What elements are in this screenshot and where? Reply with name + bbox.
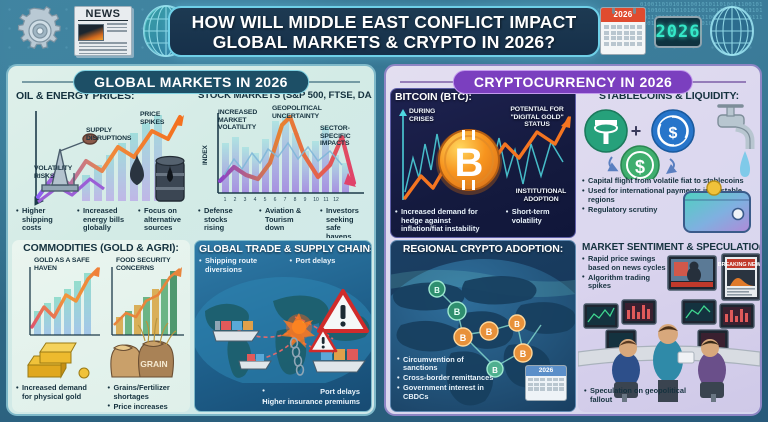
tether-coin-icon (585, 110, 627, 152)
calendar-year: 2026 (526, 366, 566, 376)
svg-text:12: 12 (333, 197, 339, 203)
digital-year-display: 2026 (656, 22, 701, 42)
svg-text:10: 10 (313, 197, 319, 203)
svg-text:4: 4 (254, 197, 257, 203)
bullet-list: Increased energy bills globally (73, 207, 129, 234)
dollar-coin-icon: $ (621, 146, 659, 179)
svg-text:$: $ (669, 125, 678, 142)
bullet-item: Increased demand for hedge against infla… (395, 208, 493, 234)
bullet-item: Speculation on geopolitical fallout (584, 387, 688, 404)
bullet-item: Shipping route diversions (199, 257, 277, 274)
faucet-icon (718, 106, 750, 177)
chart-label-gold-safe-haven: GOLD AS A SAFE HAVEN (34, 257, 92, 272)
calendar-icon: 2026 (525, 365, 567, 401)
svg-text:6: 6 (274, 197, 277, 203)
calendar-icon: 2026 (600, 7, 646, 55)
bullet-item: Higher shipping costs (16, 207, 64, 233)
svg-text:B: B (454, 307, 461, 317)
title-line-1: HOW WILL MIDDLE EAST CONFLICT IMPACT (192, 12, 577, 32)
bullet-list: Port delays (286, 257, 372, 276)
header-bar: NEWS HOW WILL MIDDLE EAST CONFLICT IMPA (0, 0, 768, 62)
svg-text:B: B (455, 141, 484, 185)
bullet-item: Circumvention of sanctions (397, 356, 497, 373)
newspaper-label: NEWS (78, 9, 128, 21)
bullet-list: Defense stocks rising (194, 207, 250, 238)
svg-text:5: 5 (264, 197, 267, 203)
bullet-list: Circumvention of sanctions Cross-border … (393, 356, 501, 403)
section-global-trade: GLOBAL TRADE & SUPPLY CHAINS: Shipping r… (194, 240, 372, 412)
bullet-list: Investors seeking safe havens (316, 207, 372, 238)
bullet-list: Shipping route diversions (195, 257, 281, 276)
bullet-list: Port delays Higher insurance premiums (262, 388, 367, 407)
chart-label-geopolitical-uncertainty: GEOPOLITICAL UNCERTAINTY (272, 105, 328, 120)
chart-label-food-security: FOOD SECURITY CONCERNS (116, 257, 178, 272)
bullet-list: Short-term volatility (502, 208, 575, 235)
svg-text:B: B (434, 286, 440, 295)
bullet-list: Speculation on geopolitical fallout (580, 387, 692, 406)
newspaper-photo (78, 24, 104, 41)
svg-text:3: 3 (244, 197, 247, 203)
bullet-item: Price increases (108, 403, 187, 412)
svg-text:B: B (460, 333, 467, 343)
stock-index-chart: 123 456 789 101112 INDEX INCREASED MARKE… (194, 103, 372, 213)
infographic-root: NEWS HOW WILL MIDDLE EAST CONFLICT IMPA (0, 0, 768, 422)
bullet-list: Aviation & Tourism down (255, 207, 311, 238)
newspaper-icon: NEWS (74, 6, 132, 56)
bullet-item: Port delays (290, 257, 368, 266)
bullet-item: Higher insurance premiums (262, 398, 367, 407)
svg-text:B: B (520, 349, 527, 359)
title-line-2: GLOBAL MARKETS & CRYPTO IN 2026? (213, 32, 556, 52)
bullet-item: Aviation & Tourism down (259, 207, 307, 233)
bullet-item: Defense stocks rising (198, 207, 246, 233)
section-stablecoins: STABLECOINS & LIQUIDITY: + (578, 88, 760, 238)
bullet-item: Government interest in CBDCs (397, 384, 497, 401)
bullet-item: Focus on alternative sources (138, 207, 186, 233)
section-bitcoin: BITCOIN (BTC): (390, 88, 576, 238)
commodities-charts: GRAIN GOLD AS A SAFE HAVEN FOOD SECURITY… (12, 255, 190, 383)
svg-text:$: $ (635, 157, 645, 177)
svg-text:11: 11 (323, 197, 328, 203)
usdc-coin-icon: $ (652, 110, 694, 152)
svg-text:2: 2 (234, 197, 237, 203)
bullet-list: Higher shipping costs (12, 207, 68, 234)
svg-text:B: B (486, 327, 493, 337)
chart-label-sector-impacts: SECTOR-SPECIFIC IMPACTS (320, 125, 370, 148)
svg-text:+: + (631, 121, 642, 141)
breaking-news-label: BREAKING NEWS (718, 262, 760, 268)
svg-text:INDEX: INDEX (202, 144, 209, 165)
main-title-banner: HOW WILL MIDDLE EAST CONFLICT IMPACT GLO… (168, 6, 600, 57)
bullet-item: Increased energy bills globally (77, 207, 125, 233)
bullet-item: Investors seeking safe havens (320, 207, 368, 238)
chart-label-increased-volatility: INCREASED MARKET VOLATILITY (218, 109, 264, 132)
stablecoin-icons: + $ $ (578, 103, 760, 179)
bullet-list: Increased demand for hedge against infla… (391, 208, 497, 235)
panel-left-title: GLOBAL MARKETS IN 2026 (73, 70, 309, 94)
svg-text:7: 7 (284, 197, 287, 203)
world-map-icon (195, 277, 371, 383)
svg-text:8: 8 (294, 197, 297, 203)
digital-clock-icon: 2026 (654, 16, 702, 48)
panel-right-title: CRYPTOCURRENCY IN 2026 (453, 70, 693, 94)
chart-label-during-crises: DURING CRISES (409, 108, 451, 123)
globe-icon (706, 4, 758, 58)
section-stock-markets: STOCK MARKETS (S&P 500, FTSE, DAX): (194, 88, 372, 238)
bullet-list: Grains/Fertilizer shortages Price increa… (104, 384, 191, 412)
bullet-item: Grains/Fertilizer shortages (108, 384, 187, 401)
section-market-sentiment: MARKET SENTIMENT & SPECULATION: Rapid pr… (578, 240, 760, 412)
bullet-item: Cross-border remittances (397, 374, 497, 383)
chart-label-supply-disruptions: SUPPLY DISRUPTIONS (86, 127, 136, 142)
oil-price-chart: SUPPLY DISRUPTIONS PRICE SPIKES VOLATILI… (12, 103, 190, 207)
bullet-item: Port delays (262, 388, 367, 397)
svg-text:GRAIN: GRAIN (140, 359, 167, 369)
gear-icon (14, 5, 66, 57)
section-oil-energy: OIL & ENERGY PRICES: (12, 88, 190, 238)
bullet-item: Increased demand for physical gold (16, 384, 95, 401)
bullet-list: Focus on alternative sources (134, 207, 190, 234)
chart-label-volatility-risks: VOLATILITY RISKS (34, 165, 78, 180)
trader-desk-icon: BREAKING NEWS (578, 252, 760, 402)
section-regional-adoption: REGIONAL CRYPTO ADOPTION: (390, 240, 576, 412)
section-heading: COMMODITIES (GOLD & AGRI): (12, 240, 190, 255)
section-heading: GLOBAL TRADE & SUPPLY CHAINS: (195, 241, 371, 256)
svg-text:1: 1 (224, 197, 227, 203)
section-heading: REGIONAL CRYPTO ADOPTION: (391, 241, 575, 256)
svg-text:9: 9 (304, 197, 307, 203)
bullet-list: Increased demand for physical gold (12, 384, 99, 412)
chart-label-price-spikes: PRICE SPIKES (140, 111, 182, 126)
chart-label-digital-gold: POTENTIAL FOR "DIGITAL GOLD" STATUS (505, 106, 569, 129)
svg-text:B: B (514, 320, 520, 329)
page-title: HOW WILL MIDDLE EAST CONFLICT IMPACT GLO… (192, 12, 577, 52)
panel-global-markets: GLOBAL MARKETS IN 2026 OIL & ENERGY PRIC… (6, 64, 376, 416)
bullet-item: Short-term volatility (506, 208, 571, 225)
wallet-icon (680, 178, 756, 236)
chart-label-institutional-adoption: INSTITUTIONAL ADOPTION (511, 188, 571, 203)
bitcoin-chart: B DURING CRISES POTENTIAL FOR "DIGITAL G… (391, 104, 575, 208)
calendar-year: 2026 (601, 8, 645, 22)
panel-cryptocurrency: CRYPTOCURRENCY IN 2026 BITCOIN (BTC): (384, 64, 762, 416)
section-commodities: COMMODITIES (GOLD & AGRI): (12, 240, 190, 412)
